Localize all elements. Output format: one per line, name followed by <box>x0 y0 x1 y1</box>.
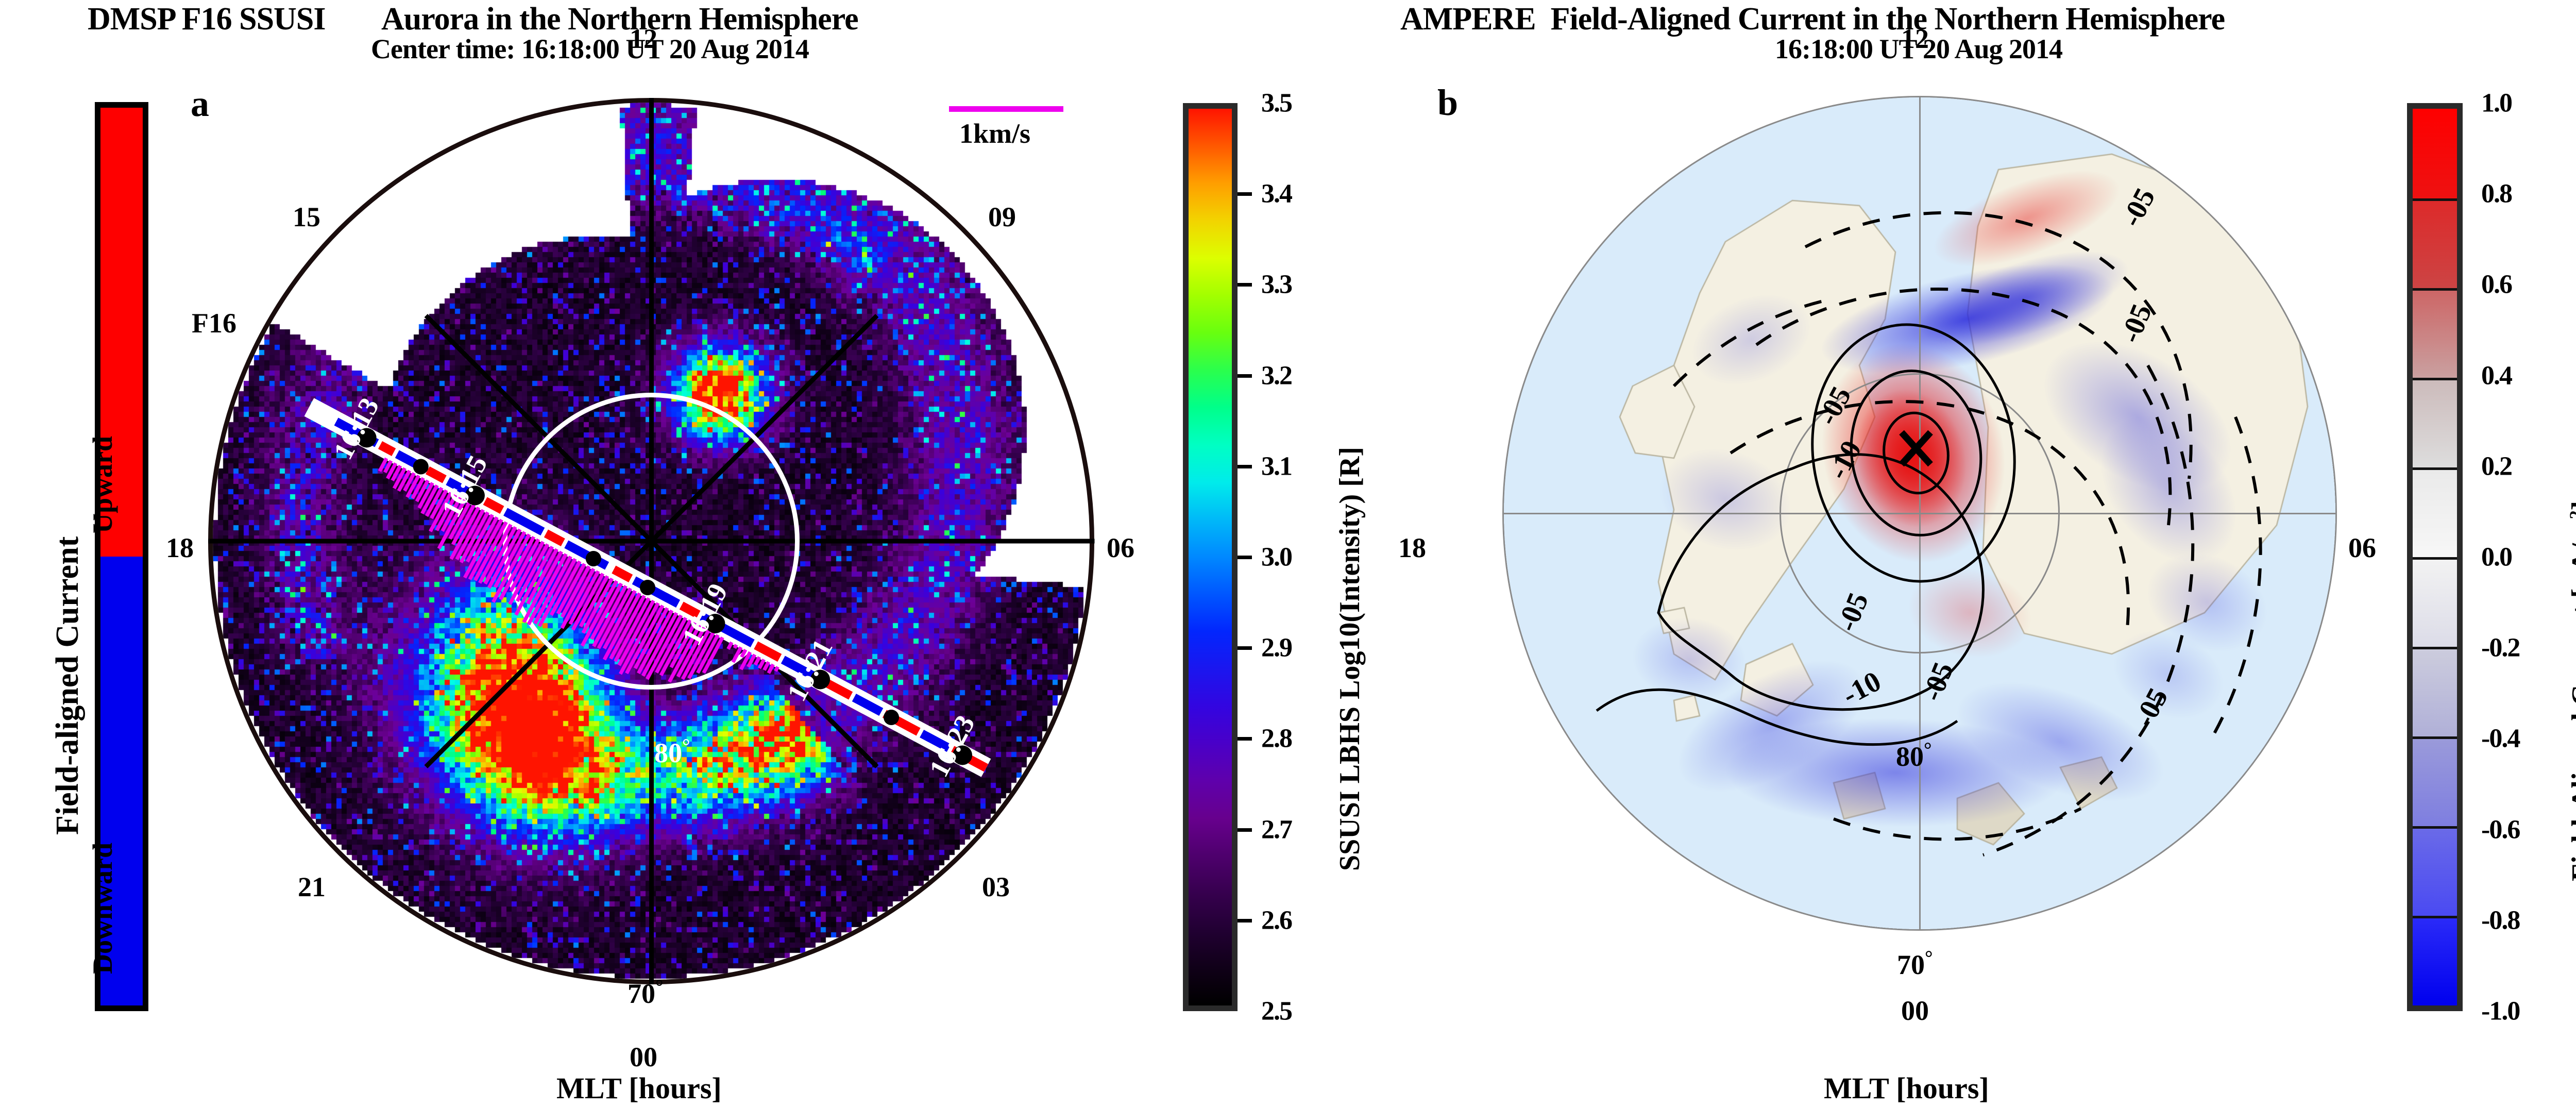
colorbar-b-tick-label: -0.6 <box>2481 814 2519 845</box>
convection-throat-marker <box>1902 432 1930 464</box>
potential-contour-overlay: -05-10-05-10-05-05-05-05 <box>1504 97 2337 931</box>
axis-title-mlt-b: MLT [hours] <box>1824 1071 1989 1105</box>
colorbar-a-tick-label: 2.8 <box>1261 724 1292 754</box>
left-panel-instrument-title: DMSP F16 SSUSI <box>88 1 325 38</box>
mlt-label-03-a: 03 <box>982 871 1010 903</box>
colorbar-a-tick-label: 2.7 <box>1261 814 1292 845</box>
ssusi-intensity-colorbar <box>1183 103 1238 1011</box>
contour-label: -05 <box>2115 183 2162 232</box>
fac-downward-label: Downward <box>87 843 118 974</box>
colorbar-b-tick-label: 1.0 <box>2481 88 2512 119</box>
colorbar-b-tick-label: 0.8 <box>2481 179 2512 209</box>
right-panel-instrument: AMPERE <box>1400 2 1536 37</box>
colorbar-a-tick-label: 2.6 <box>1261 905 1292 935</box>
satellite-name-label: F16 <box>192 307 236 339</box>
mlt-label-00-a: 00 <box>630 1041 657 1073</box>
colorbar-b-tick-label: 0.4 <box>2481 360 2512 391</box>
colorbar-a-tick <box>1238 646 1252 650</box>
contour-label: -05 <box>1811 381 1858 430</box>
colorbar-b-band <box>2413 736 2457 826</box>
colorbar-a-tick-label: 2.5 <box>1261 996 1292 1027</box>
colorbar-a-tick-label: 2.9 <box>1261 633 1292 663</box>
lat-label-80-b: 80° <box>1896 738 1932 773</box>
colorbar-b-band <box>2413 378 2457 467</box>
colorbar-a-tick-label: 3.1 <box>1261 451 1292 481</box>
colorbar-b-band <box>2413 467 2457 557</box>
colorbar-a-tick-label: 3.2 <box>1261 360 1292 391</box>
fac-upward-label: Upward <box>87 436 118 533</box>
contour-label: -05 <box>1916 658 1960 705</box>
polar-plot-fac: -05-10-05-10-05-05-05-05 <box>1502 96 2337 931</box>
colorbar-b-tick-label: -0.8 <box>2481 905 2519 935</box>
contour-label: -05 <box>2128 683 2175 732</box>
colorbar-b-tick-label: -0.2 <box>2481 633 2519 663</box>
colorbar-b-tick-label: -0.4 <box>2481 724 2519 754</box>
mlt-label-12-a: 12 <box>630 23 657 55</box>
contour-label: -10 <box>1822 435 1868 484</box>
ampere-fac-colorbar <box>2407 103 2463 1011</box>
polar-plot-aurora: 16:1316:1516:1916:2116:23 <box>208 98 1094 984</box>
colorbar-a-tick <box>1238 919 1252 922</box>
colorbar-b-tick-label: 0.2 <box>2481 451 2512 481</box>
mlt-label-18-b: 18 <box>1398 532 1426 564</box>
left-panel-subtitle: Center time: 16:18:00 UT 20 Aug 2014 <box>371 33 809 65</box>
ampere-colorbar-title: Field-Aligned Current [μA/m2] <box>2566 501 2576 881</box>
mlt-label-06-b: 06 <box>2348 532 2376 564</box>
mlt-label-18-a: 18 <box>166 532 194 564</box>
colorbar-b-tick-label: 0.6 <box>2481 270 2512 300</box>
colorbar-b-tick-label: 0.0 <box>2481 542 2512 573</box>
mlt-label-15-a: 15 <box>293 201 320 233</box>
colorbar-b-band <box>2413 288 2457 378</box>
f16-satellite-track-overlay: 16:1316:1516:1916:2116:23 <box>208 98 1094 984</box>
colorbar-a-tick <box>1238 737 1252 741</box>
velocity-scale-bar <box>949 106 1063 112</box>
colorbar-b-band <box>2413 557 2457 647</box>
left-panel-main-title: Aurora in the Northern Hemisphere <box>381 1 858 38</box>
lat-label-70-a: 70° <box>628 975 664 1010</box>
colorbar-b-band <box>2413 109 2457 198</box>
contour-label: -05 <box>1831 588 1875 635</box>
mlt-label-09-a: 09 <box>988 201 1016 233</box>
colorbar-a-tick <box>1238 374 1252 378</box>
right-panel-title: AMPERE Field-Aligned Current in the Nort… <box>1400 1 2225 38</box>
colorbar-b-band <box>2413 916 2457 1005</box>
colorbar-b-band <box>2413 826 2457 916</box>
colorbar-a-tick-label: 3.0 <box>1261 542 1292 573</box>
right-panel-main-title: Field-Aligned Current in the Northern He… <box>1551 2 2225 37</box>
colorbar-a-tick-label: 3.5 <box>1261 88 1292 119</box>
lat-label-70-b: 70° <box>1897 946 1933 981</box>
colorbar-a-tick <box>1238 556 1252 559</box>
mlt-label-21-a: 21 <box>298 871 326 903</box>
contour-label: -10 <box>1837 665 1886 712</box>
colorbar-b-band <box>2413 647 2457 736</box>
colorbar-a-tick <box>1238 192 1252 196</box>
velocity-scale-label: 1km/s <box>959 118 1030 149</box>
colorbar-b-tick-label: -1.0 <box>2481 996 2519 1027</box>
mlt-label-00-b: 00 <box>1901 995 1929 1027</box>
mlt-label-06-a: 06 <box>1107 532 1134 564</box>
panel-label-a: a <box>191 82 209 125</box>
fac-legend-title: Field-aligned Current <box>49 536 86 835</box>
colorbar-a-tick <box>1238 465 1252 468</box>
colorbar-a-tick <box>1238 828 1252 832</box>
colorbar-a-tick-label: 3.4 <box>1261 179 1292 209</box>
axis-title-mlt-a: MLT [hours] <box>556 1071 722 1105</box>
contour-label: -05 <box>2114 299 2158 347</box>
colorbar-gradient-a <box>1189 109 1232 1005</box>
fac-disc: -05-10-05-10-05-05-05-05 <box>1502 96 2337 931</box>
mlt-label-12-b: 12 <box>1901 23 1929 55</box>
colorbar-a-tick-label: 3.3 <box>1261 270 1292 300</box>
colorbar-a-tick <box>1238 283 1252 287</box>
panel-label-b: b <box>1437 81 1458 124</box>
lat-label-80-a: 80° <box>654 734 690 769</box>
colorbar-b-band <box>2413 198 2457 288</box>
ssusi-colorbar-title: SSUSI LBHS Log10(Intensity) [R] <box>1333 447 1366 871</box>
